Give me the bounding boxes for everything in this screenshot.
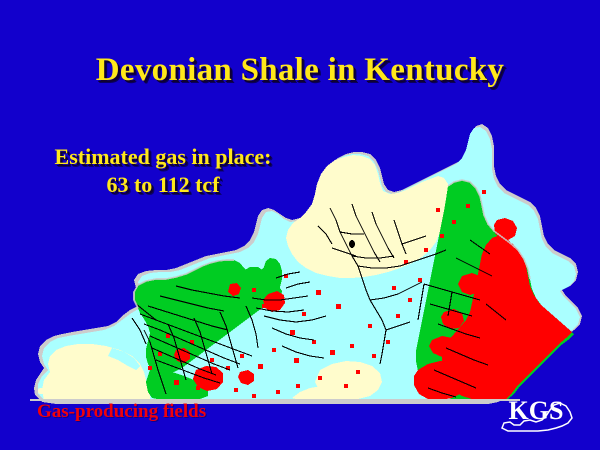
page-title: Devonian Shale in Kentucky: [0, 52, 600, 89]
kgs-logo-text: KGS: [509, 396, 564, 425]
estimated-gas-line2: 63 to 112 tcf: [8, 171, 318, 199]
slide-canvas: Devonian Shale in Kentucky Estimated gas…: [0, 0, 600, 450]
estimated-gas-line1: Estimated gas in place:: [55, 144, 272, 169]
estimated-gas-annotation: Estimated gas in place: 63 to 112 tcf: [8, 143, 318, 199]
gas-fields-legend-label: Gas-producing fields: [37, 401, 206, 423]
kgs-logo[interactable]: KGS: [494, 392, 578, 438]
mississippi-island: [38, 388, 44, 394]
